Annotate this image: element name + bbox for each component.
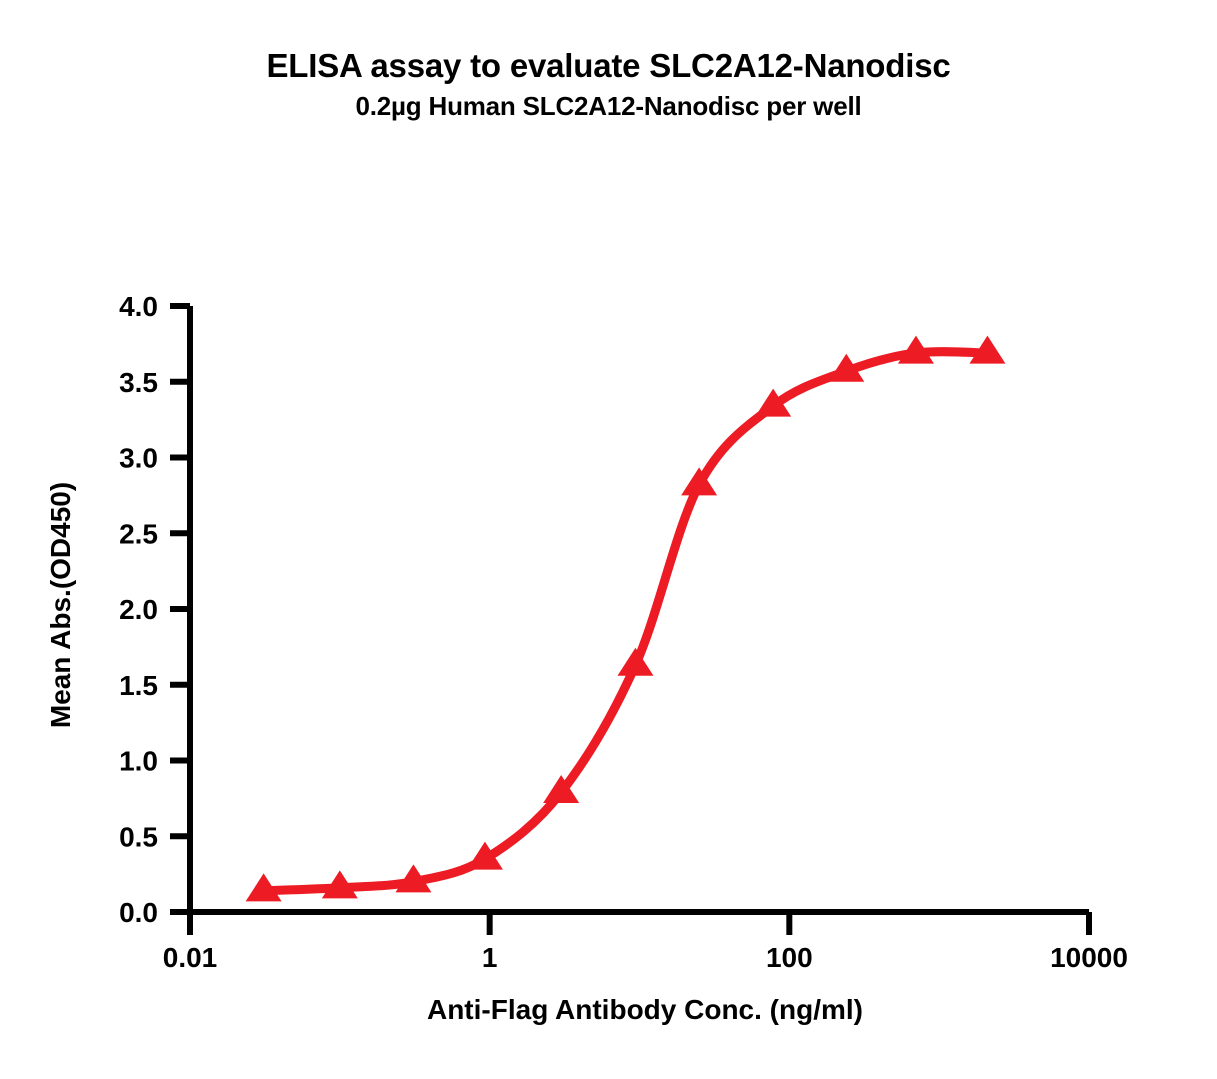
- axes-group: [170, 306, 1089, 935]
- y-tick-label: 2.0: [119, 594, 158, 625]
- y-tick-label: 3.0: [119, 443, 158, 474]
- fit-curve: [264, 352, 988, 891]
- elisa-chart-figure: ELISA assay to evaluate SLC2A12-Nanodisc…: [0, 0, 1217, 1079]
- y-tick-label: 1.0: [119, 746, 158, 777]
- y-tick-label: 1.5: [119, 670, 158, 701]
- data-point-markers: [246, 336, 1006, 902]
- y-tick-label: 3.5: [119, 367, 158, 398]
- plot-area: 0.00.51.01.52.02.53.03.54.0 0.0111001000…: [0, 0, 1217, 1079]
- y-axis-title: Mean Abs.(OD450): [45, 482, 76, 728]
- x-axis-ticks: [190, 912, 1089, 935]
- y-tick-label: 0.5: [119, 821, 158, 852]
- x-tick-label: 100: [766, 942, 813, 973]
- data-series-group: [246, 336, 1006, 902]
- y-axis-tick-labels: 0.00.51.01.52.02.53.03.54.0: [119, 291, 158, 928]
- y-tick-label: 2.5: [119, 518, 158, 549]
- y-tick-label: 4.0: [119, 291, 158, 322]
- x-axis-title: Anti-Flag Antibody Conc. (ng/ml): [427, 994, 863, 1025]
- y-tick-label: 0.0: [119, 897, 158, 928]
- x-tick-label: 0.01: [163, 942, 218, 973]
- x-tick-label: 1: [482, 942, 498, 973]
- x-tick-label: 10000: [1050, 942, 1128, 973]
- data-point-marker: [617, 648, 653, 676]
- x-axis-tick-labels: 0.01110010000: [163, 942, 1128, 973]
